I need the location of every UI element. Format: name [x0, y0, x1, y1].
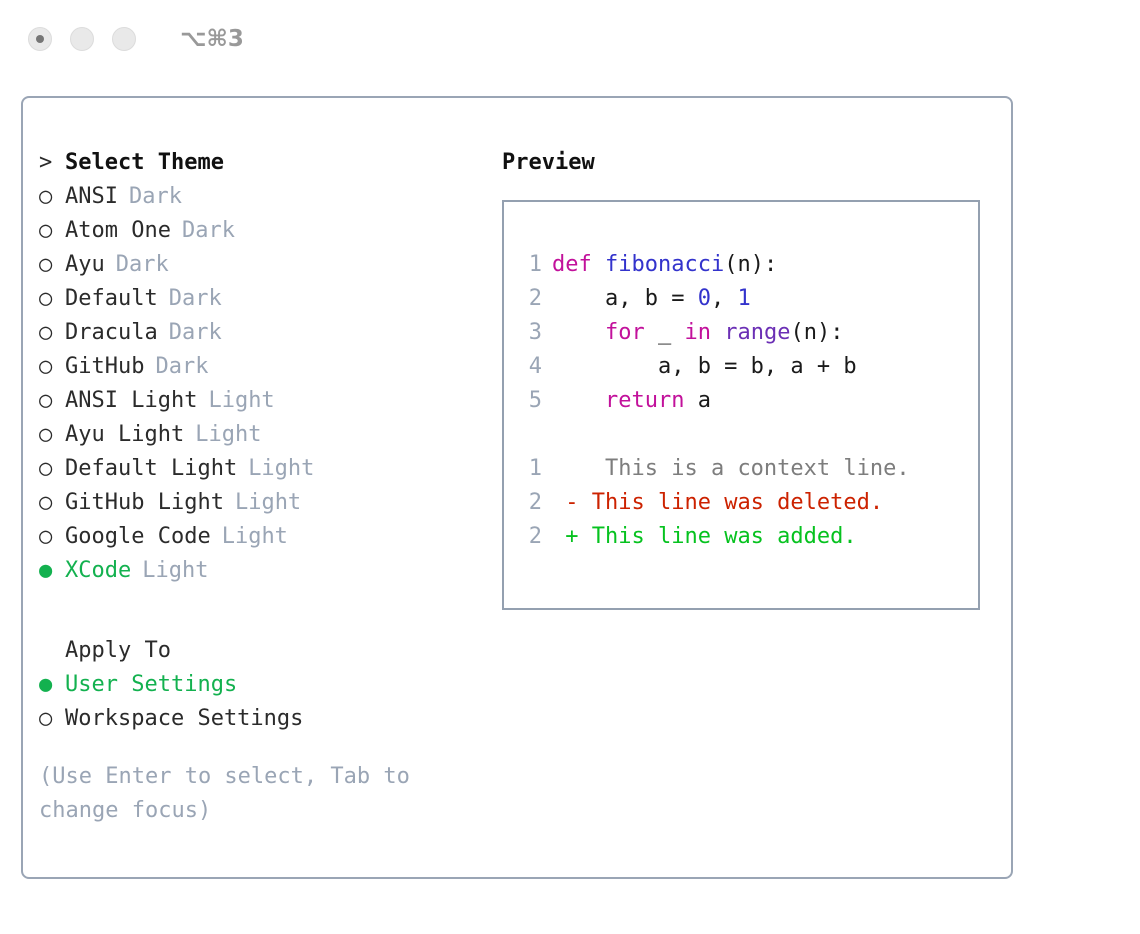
keyboard-hint-text: (Use Enter to select, Tab to change focu…	[39, 760, 451, 828]
code-token-kw: in	[684, 320, 711, 345]
theme-variant-badge: Light	[142, 554, 208, 588]
theme-option-default[interactable]: ○DefaultDark	[39, 282, 479, 316]
radio-unselected-icon[interactable]: ○	[39, 384, 65, 418]
diff-sign: -	[552, 490, 579, 515]
apply-to-option-label: Workspace Settings	[65, 702, 303, 736]
code-diff-spacer	[524, 418, 978, 452]
theme-variant-badge: Light	[195, 418, 261, 452]
apply-to-group: Apply To●User Settings○Workspace Setting…	[39, 634, 479, 736]
radio-selected-icon[interactable]: ●	[39, 668, 65, 702]
radio-selected-icon[interactable]: ●	[39, 554, 65, 588]
radio-unselected-icon[interactable]: ○	[39, 350, 65, 384]
code-line-number: 4	[524, 350, 542, 384]
theme-option-label: ANSI	[65, 180, 118, 214]
diff-sign: +	[552, 524, 579, 549]
theme-option-github-light[interactable]: ○GitHub LightLight	[39, 486, 479, 520]
code-token-num: 1	[737, 286, 750, 311]
diff-line-add: 2 + This line was added.	[524, 520, 978, 554]
theme-variant-badge: Dark	[182, 214, 235, 248]
theme-option-atom-one[interactable]: ○Atom OneDark	[39, 214, 479, 248]
code-token-txt: _	[645, 320, 685, 345]
code-token-txt: (n):	[790, 320, 843, 345]
code-token-txt	[552, 320, 605, 345]
theme-option-label: Atom One	[65, 214, 171, 248]
apply-to-option-workspace-settings[interactable]: ○Workspace Settings	[39, 702, 479, 736]
code-token-txt	[552, 388, 605, 413]
code-token-kw: for	[605, 320, 645, 345]
prompt-caret-icon: >	[39, 146, 65, 180]
code-line-number: 1	[524, 248, 542, 282]
section-spacer	[39, 588, 479, 634]
theme-option-label: Dracula	[65, 316, 158, 350]
apply-to-option-label: User Settings	[65, 668, 237, 702]
radio-unselected-icon[interactable]: ○	[39, 520, 65, 554]
radio-unselected-icon[interactable]: ○	[39, 418, 65, 452]
theme-option-label: Default	[65, 282, 158, 316]
code-token-txt	[711, 320, 724, 345]
theme-variant-badge: Dark	[155, 350, 208, 384]
radio-unselected-icon[interactable]: ○	[39, 214, 65, 248]
window-dot-third[interactable]	[112, 27, 136, 51]
theme-variant-badge: Dark	[169, 282, 222, 316]
diff-sign	[552, 456, 579, 481]
diff-line-text: This is a context line.	[579, 456, 910, 481]
code-line: 1def fibonacci(n):	[524, 248, 978, 282]
code-token-call: range	[724, 320, 790, 345]
code-line: 4 a, b = b, a + b	[524, 350, 978, 384]
window-dot-active-indicator	[36, 35, 44, 43]
theme-variant-badge: Light	[222, 520, 288, 554]
code-line-number: 5	[524, 384, 542, 418]
theme-list: >Select Theme○ANSIDark○Atom OneDark○AyuD…	[39, 146, 479, 588]
code-token-txt: a, b =	[552, 286, 698, 311]
radio-unselected-icon[interactable]: ○	[39, 248, 65, 282]
theme-option-label: GitHub	[65, 350, 144, 384]
diff-line-number: 2	[524, 520, 542, 554]
code-token-num: 0	[698, 286, 711, 311]
code-token-fn: fibonacci	[605, 252, 724, 277]
code-line: 2 a, b = 0, 1	[524, 282, 978, 316]
theme-option-label: Default Light	[65, 452, 237, 486]
diff-line-del: 2 - This line was deleted.	[524, 486, 978, 520]
radio-unselected-icon[interactable]: ○	[39, 452, 65, 486]
preview-column: Preview 1def fibonacci(n):2 a, b = 0, 13…	[502, 146, 992, 610]
theme-option-ayu-light[interactable]: ○Ayu LightLight	[39, 418, 479, 452]
window-titlebar: ⌥⌘3	[0, 0, 1140, 78]
theme-variant-badge: Light	[208, 384, 274, 418]
theme-variant-badge: Dark	[129, 180, 182, 214]
code-line-number: 2	[524, 282, 542, 316]
window-controls	[28, 27, 136, 51]
code-token-txt: a	[684, 388, 711, 413]
theme-variant-badge: Dark	[169, 316, 222, 350]
theme-list-title: Select Theme	[65, 146, 224, 180]
theme-variant-badge: Light	[235, 486, 301, 520]
diff-line-ctx: 1 This is a context line.	[524, 452, 978, 486]
theme-variant-badge: Light	[248, 452, 314, 486]
theme-option-dracula[interactable]: ○DraculaDark	[39, 316, 479, 350]
theme-option-label: XCode	[65, 554, 131, 588]
diff-line-number: 2	[524, 486, 542, 520]
diff-line-text: This line was added.	[579, 524, 857, 549]
theme-option-default-light[interactable]: ○Default LightLight	[39, 452, 479, 486]
window-dot-second[interactable]	[70, 27, 94, 51]
radio-unselected-icon[interactable]: ○	[39, 316, 65, 350]
diff-line-number: 1	[524, 452, 542, 486]
code-sample: 1def fibonacci(n):2 a, b = 0, 13 for _ i…	[524, 248, 978, 418]
code-line: 3 for _ in range(n):	[524, 316, 978, 350]
keyboard-shortcut-label: ⌥⌘3	[180, 26, 244, 52]
diff-line-text: This line was deleted.	[579, 490, 884, 515]
code-token-txt: a, b = b, a + b	[552, 354, 857, 379]
radio-unselected-icon[interactable]: ○	[39, 282, 65, 316]
theme-list-header: >Select Theme	[39, 146, 479, 180]
preview-title: Preview	[502, 146, 992, 180]
preview-code-box: 1def fibonacci(n):2 a, b = 0, 13 for _ i…	[502, 200, 980, 610]
apply-to-header-spacer	[39, 634, 65, 668]
code-token-txt: (n):	[724, 252, 777, 277]
theme-option-google-code[interactable]: ○Google CodeLight	[39, 520, 479, 554]
window-dot-active[interactable]	[28, 27, 52, 51]
radio-unselected-icon[interactable]: ○	[39, 180, 65, 214]
theme-option-label: ANSI Light	[65, 384, 197, 418]
theme-option-github[interactable]: ○GitHubDark	[39, 350, 479, 384]
code-line: 5 return a	[524, 384, 978, 418]
theme-option-ayu[interactable]: ○AyuDark	[39, 248, 479, 282]
main-panel: >Select Theme○ANSIDark○Atom OneDark○AyuD…	[21, 96, 1013, 879]
code-line-number: 3	[524, 316, 542, 350]
theme-variant-badge: Dark	[116, 248, 169, 282]
theme-selector-column: >Select Theme○ANSIDark○Atom OneDark○AyuD…	[39, 146, 479, 736]
theme-option-ansi-light[interactable]: ○ANSI LightLight	[39, 384, 479, 418]
diff-sample: 1 This is a context line.2 - This line w…	[524, 452, 978, 554]
code-token-kw: return	[605, 388, 684, 413]
radio-unselected-icon[interactable]: ○	[39, 702, 65, 736]
theme-option-label: Ayu Light	[65, 418, 184, 452]
apply-to-header: Apply To	[39, 634, 479, 668]
radio-unselected-icon[interactable]: ○	[39, 486, 65, 520]
theme-option-ansi[interactable]: ○ANSIDark	[39, 180, 479, 214]
theme-option-label: Ayu	[65, 248, 105, 282]
code-token-txt: ,	[711, 286, 738, 311]
theme-option-label: Google Code	[65, 520, 211, 554]
apply-to-title: Apply To	[65, 634, 171, 668]
apply-to-option-user-settings[interactable]: ●User Settings	[39, 668, 479, 702]
theme-option-xcode[interactable]: ●XCodeLight	[39, 554, 479, 588]
code-token-kw: def	[552, 252, 605, 277]
theme-option-label: GitHub Light	[65, 486, 224, 520]
